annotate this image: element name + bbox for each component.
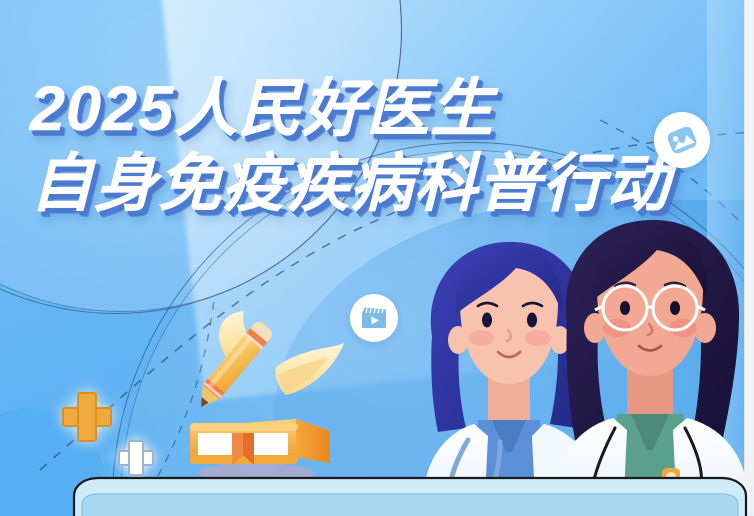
book (190, 419, 330, 465)
poster-canvas: 2025人民好医生 自身免疫疾病科普行动 (0, 0, 754, 516)
image-icon-bubble[interactable] (654, 112, 710, 168)
book-top-edge (190, 423, 298, 431)
pencil-book-svg (168, 305, 358, 485)
winged-pencil-and-book (168, 305, 358, 485)
plus-mark-white (118, 440, 150, 472)
plus-orange-vertical (77, 392, 97, 442)
plus-white-vertical (128, 440, 144, 476)
doctor-left-blush-left (468, 330, 494, 346)
title-line-2: 自身免疫疾病科普行动 (30, 153, 670, 216)
poster-title: 2025人民好医生 自身免疫疾病科普行动 (30, 78, 670, 216)
doctor-left-eye-right (527, 313, 537, 328)
book-spine-side (296, 419, 330, 463)
doctor-right-eye-left (620, 301, 630, 315)
doctor-left-eye-left (482, 313, 492, 328)
plus-mark-orange (62, 392, 108, 438)
desk-edge (82, 494, 738, 516)
desk-surface-svg (60, 474, 754, 516)
desk-surface (60, 474, 754, 516)
doctor-right-eye-right (670, 301, 680, 315)
book-bottom-edge (190, 455, 298, 464)
title-line-1: 2025人民好医生 (30, 78, 670, 141)
video-icon-bubble[interactable] (350, 294, 398, 342)
doctor-left-neck (488, 378, 530, 424)
image-icon (664, 122, 700, 158)
video-clapperboard-icon (358, 302, 390, 334)
